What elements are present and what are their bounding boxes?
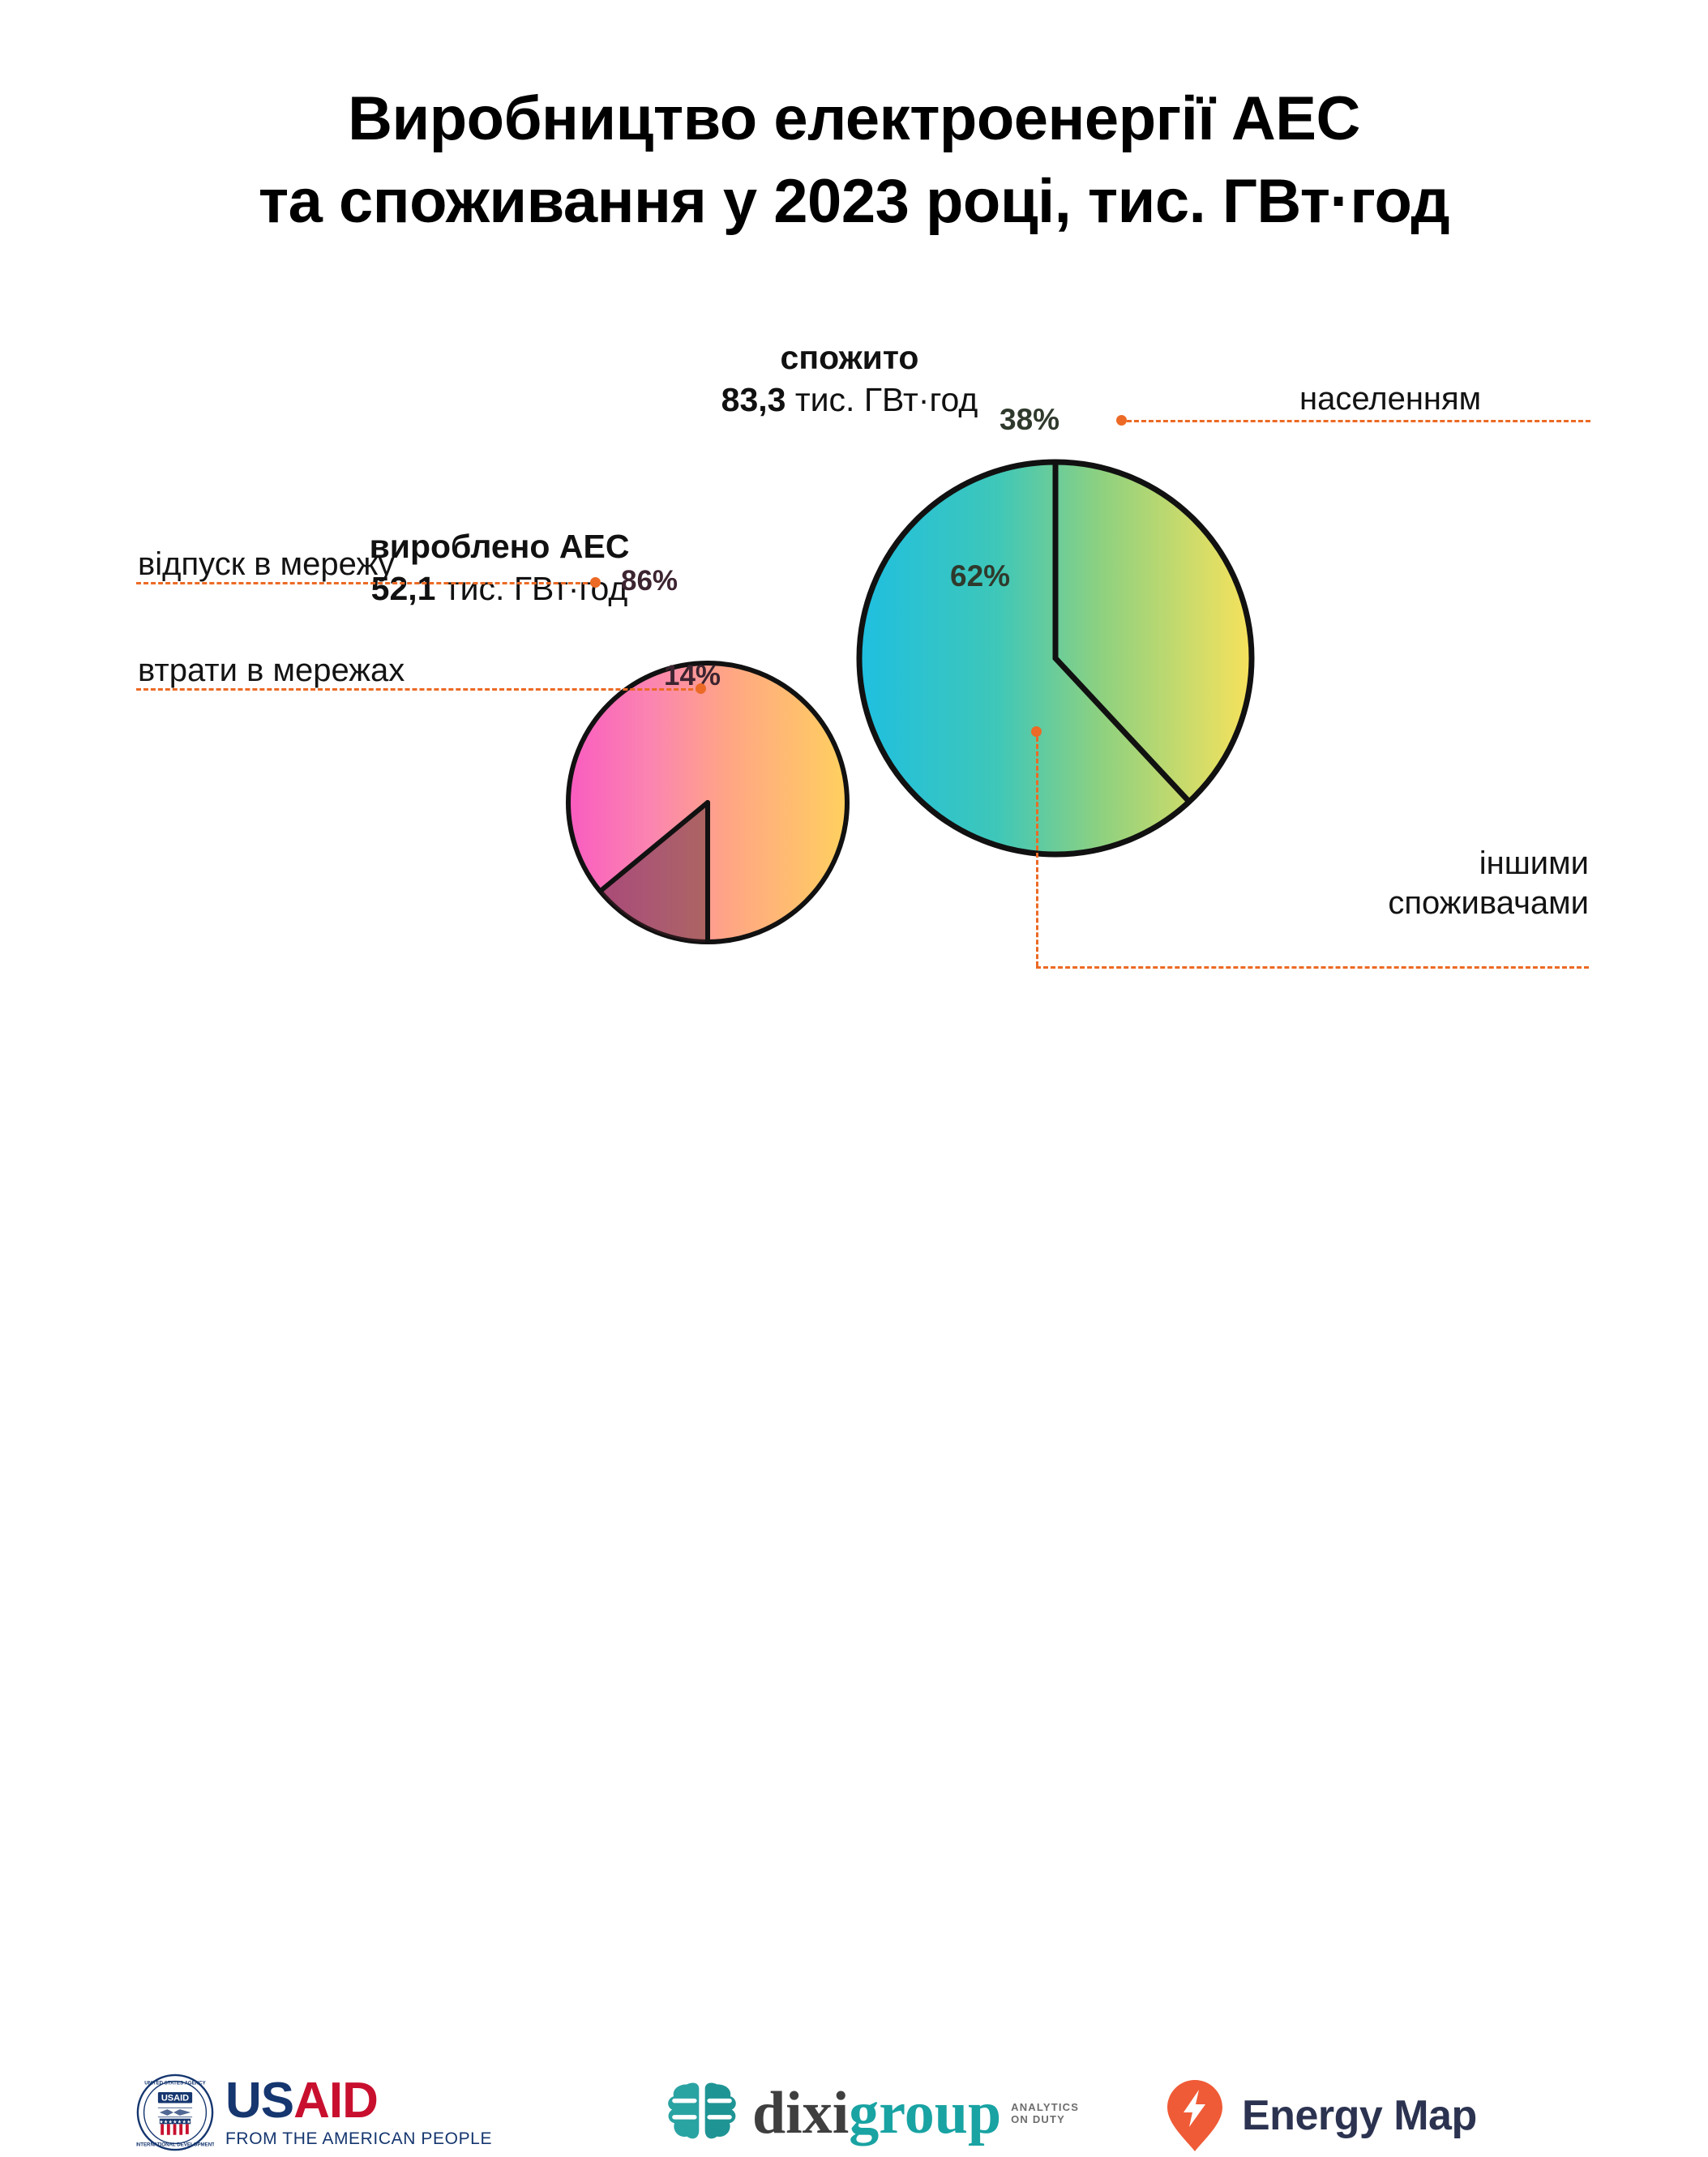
- callout-others-line-2: споживачами: [1265, 884, 1589, 923]
- leader-line-others-vertical: [1036, 737, 1038, 966]
- callout-losses: втрати в мережах: [138, 651, 405, 691]
- dixigroup-tagline-line-2: ON DUTY: [1011, 2113, 1079, 2125]
- produced-unit: тис. ГВт·год: [445, 570, 627, 607]
- energymap-logo: Energy Map: [1166, 2078, 1477, 2153]
- leader-dot-population: [1116, 415, 1127, 426]
- svg-text:UNITED STATES AGENCY: UNITED STATES AGENCY: [144, 2080, 205, 2086]
- title-line-1: Виробництво електроенергії АЕС: [0, 78, 1708, 160]
- produced-losses-percent: 14%: [664, 660, 721, 692]
- svg-text:USAID: USAID: [161, 2094, 189, 2104]
- dixigroup-word-group: group: [849, 2080, 1001, 2146]
- consumed-others-percent: 62%: [950, 559, 1010, 593]
- callout-release: відпуск в мережу: [138, 545, 395, 584]
- leader-dot-others: [1031, 726, 1042, 737]
- leader-line-others-horizontal: [1036, 966, 1589, 969]
- energymap-pin-icon: [1166, 2078, 1224, 2153]
- usaid-word-us: US: [225, 2073, 293, 2129]
- infographic-canvas: Виробництво електроенергії АЕС та спожив…: [0, 0, 1708, 1171]
- dixigroup-logo: dixigroup ANALYTICS ON DUTY: [665, 2078, 1079, 2148]
- usaid-wordmark: USAID FROM THE AMERICAN PEOPLE: [225, 2076, 492, 2149]
- produced-pie-chart: [566, 661, 850, 944]
- consumed-pie-chart: [857, 460, 1254, 857]
- callout-population: населенням: [1299, 379, 1481, 419]
- produced-release-percent: 86%: [621, 565, 678, 597]
- leader-dot-losses: [696, 683, 706, 694]
- dixigroup-wordmark: dixigroup ANALYTICS ON DUTY: [752, 2083, 1079, 2143]
- callout-others-line-1: іншими: [1265, 844, 1589, 884]
- dixigroup-brain-icon: [665, 2078, 739, 2148]
- footer-logos: USAID ★★★★★★★: [0, 1028, 1708, 1171]
- usaid-tagline: FROM THE AMERICAN PEOPLE: [225, 2129, 492, 2149]
- leader-line-population: [1127, 420, 1590, 422]
- usaid-seal-icon: USAID ★★★★★★★: [136, 2074, 214, 2151]
- callout-others: іншими споживачами: [1265, 844, 1589, 923]
- dixigroup-tagline: ANALYTICS ON DUTY: [1011, 2101, 1079, 2125]
- usaid-word-aid: AID: [293, 2073, 378, 2129]
- leader-dot-release: [590, 577, 601, 588]
- page-title: Виробництво електроенергії АЕС та спожив…: [0, 78, 1708, 243]
- consumed-population-percent: 38%: [1000, 403, 1059, 437]
- usaid-logo: USAID ★★★★★★★: [136, 2074, 492, 2151]
- consumed-unit: тис. ГВт·год: [795, 381, 978, 418]
- dixigroup-word: dixigroup: [752, 2083, 1001, 2143]
- consumed-heading: спожито: [550, 336, 1149, 379]
- svg-text:INTERNATIONAL DEVELOPMENT: INTERNATIONAL DEVELOPMENT: [136, 2142, 214, 2147]
- consumed-value: 83,3: [721, 381, 786, 418]
- usaid-wordmark-main: USAID: [225, 2076, 492, 2126]
- dixigroup-tagline-line-1: ANALYTICS: [1011, 2101, 1079, 2113]
- title-line-2: та споживання у 2023 році, тис. ГВт·год: [0, 160, 1708, 243]
- energymap-wordmark: Energy Map: [1242, 2095, 1477, 2137]
- dixigroup-word-dixi: dixi: [752, 2080, 849, 2146]
